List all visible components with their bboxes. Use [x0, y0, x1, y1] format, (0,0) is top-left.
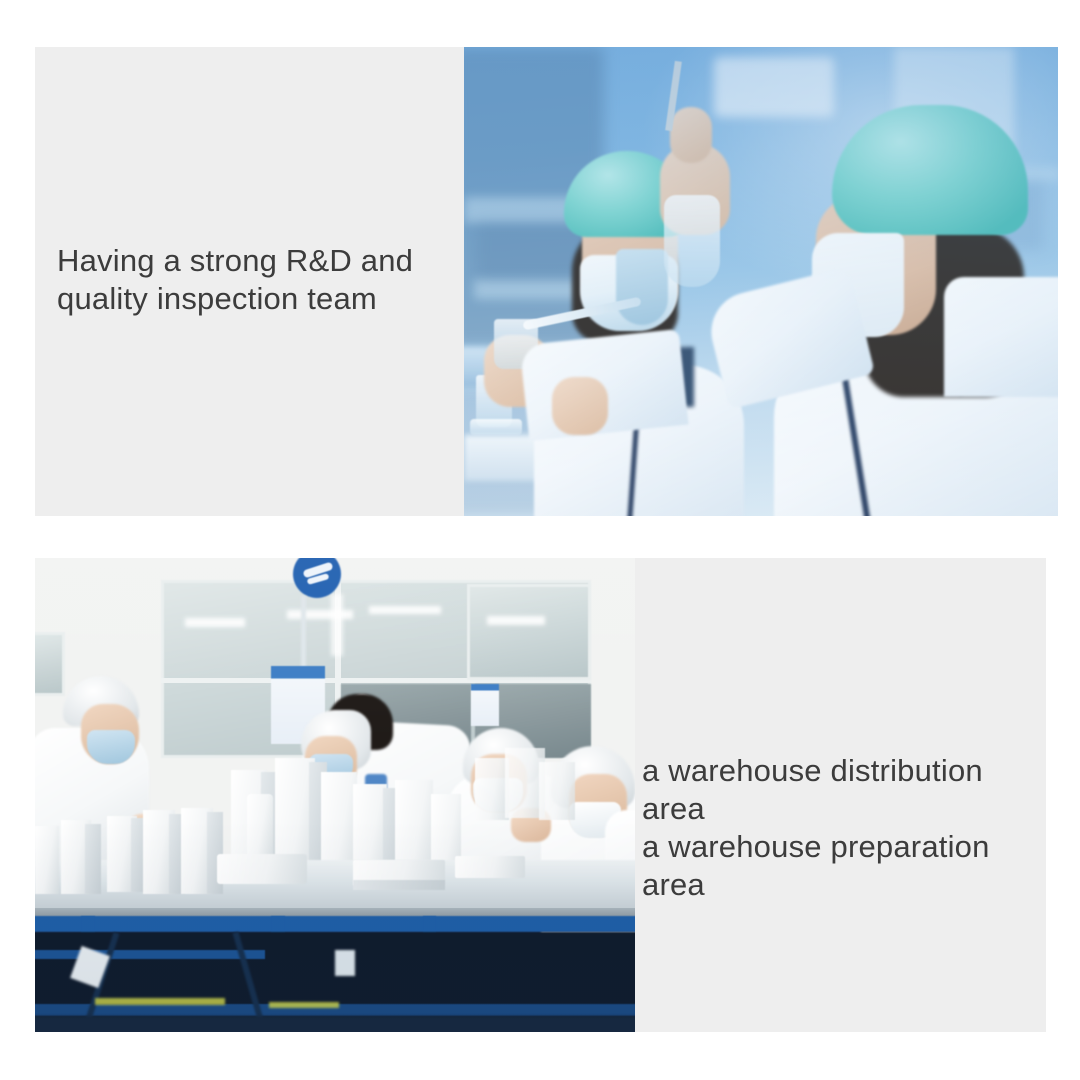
rnd-quality-caption: Having a strong R&D and quality inspecti… [57, 242, 457, 318]
warehouse-packing-photo [35, 558, 635, 1032]
lab-quality-inspection-photo [464, 47, 1058, 516]
warehouse-caption: a warehouse distribution area a warehous… [642, 752, 1042, 904]
slide-canvas: Having a strong R&D and quality inspecti… [0, 0, 1080, 1080]
warehouse-scene-background [35, 558, 635, 1032]
lab-scene-background [464, 47, 1058, 516]
